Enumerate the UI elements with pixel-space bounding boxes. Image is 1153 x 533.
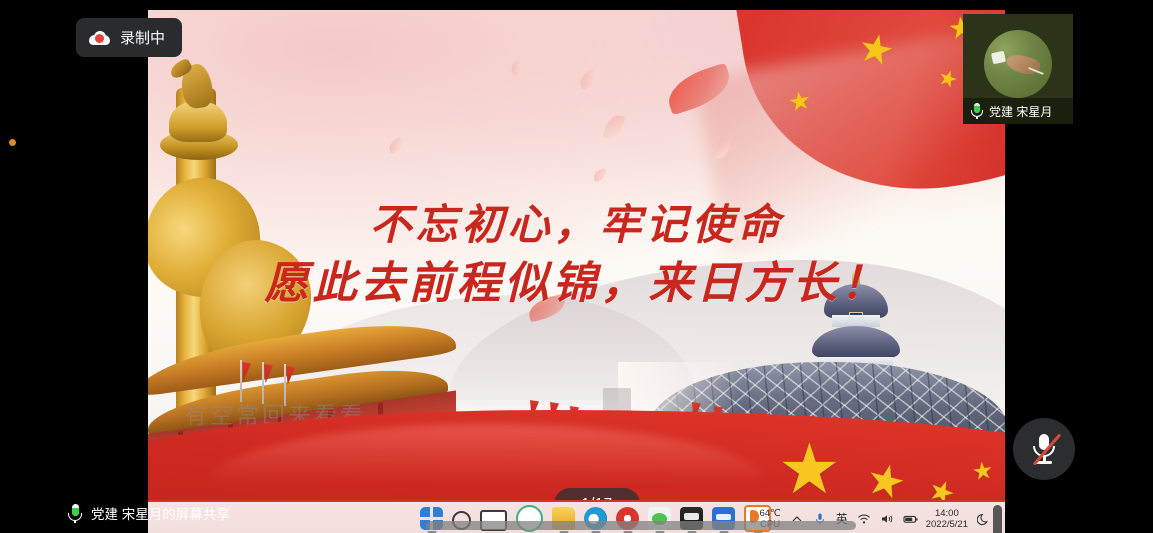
battery-icon[interactable]	[903, 512, 917, 526]
microphone-muted-icon	[1033, 434, 1055, 464]
recording-badge[interactable]: 录制中	[76, 18, 182, 57]
petal-shape	[602, 112, 625, 142]
microphone-active-icon	[971, 103, 983, 119]
flag-star-icon: ★	[786, 86, 813, 116]
clock-time: 14:00	[926, 508, 968, 519]
mute-button[interactable]	[1013, 418, 1075, 480]
participant-name-bar: 党建 宋星月	[963, 98, 1073, 124]
petal-shape	[386, 137, 405, 154]
recording-dot-icon	[95, 34, 104, 43]
moon-icon[interactable]	[977, 512, 991, 526]
speaker-icon[interactable]	[880, 512, 894, 526]
participant-name: 党建 宋星月	[989, 103, 1052, 120]
petal-shape	[576, 67, 602, 90]
screen-share-label: 党建 宋星月的屏幕共享	[68, 503, 230, 523]
recording-badge-label: 录制中	[120, 27, 165, 48]
stray-cursor-dot	[9, 139, 16, 146]
vertical-scrollbar[interactable]	[993, 505, 1002, 533]
shared-screen-region[interactable]: ★ ★ ★ ★ ★	[148, 10, 1005, 533]
wifi-icon[interactable]	[857, 512, 871, 526]
avatar	[984, 30, 1052, 98]
flag-haze	[695, 23, 1005, 258]
flag-star-icon: ★	[970, 459, 995, 486]
recording-cloud-icon	[89, 31, 110, 45]
meeting-window: ★ ★ ★ ★ ★	[0, 0, 1153, 533]
slide-page-indicator[interactable]: 1/17	[554, 488, 640, 500]
clock-date: 2022/5/21	[926, 519, 968, 530]
screen-share-label-text: 党建 宋星月的屏幕共享	[91, 503, 230, 523]
flag-star-icon: ★	[778, 434, 841, 500]
cpu-temp-value: 64℃	[759, 508, 780, 519]
clock[interactable]: 14:00 2022/5/21	[926, 508, 968, 530]
petal-shape	[592, 168, 609, 183]
participant-thumbnail[interactable]: 党建 宋星月	[963, 14, 1073, 124]
petal-shape	[508, 59, 526, 76]
microphone-active-icon	[68, 504, 82, 523]
presentation-slide[interactable]: ★ ★ ★ ★ ★	[148, 10, 1005, 500]
horizontal-scrollbar[interactable]	[426, 521, 856, 530]
